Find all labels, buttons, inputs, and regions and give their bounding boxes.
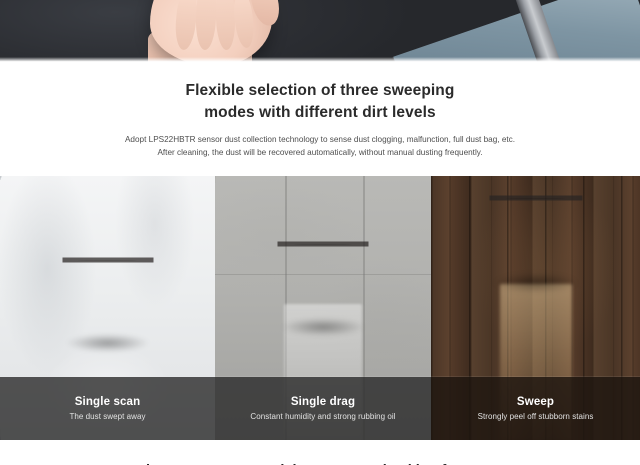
caption-title: Single scan <box>75 396 141 408</box>
caption-title: Single drag <box>291 396 355 408</box>
intro-heading-line-1: Flexible selection of three sweeping <box>186 82 455 99</box>
product-feature-page: Flexible selection of three sweeping mod… <box>0 0 640 465</box>
intro-section: Flexible selection of three sweeping mod… <box>0 62 640 176</box>
robot-seam <box>294 244 352 245</box>
intro-paragraph-line-2: After cleaning, the dust will be recover… <box>0 146 640 159</box>
hero-banner-image <box>0 0 640 62</box>
caption-subtitle: Constant humidity and strong rubbing oil <box>250 412 395 421</box>
robot-shadow <box>66 334 149 353</box>
caption-sweep: Sweep Strongly peel off stubborn stains <box>431 377 640 440</box>
caption-single-drag: Single drag Constant humidity and strong… <box>215 377 431 440</box>
mode-panels: Single scan The dust swept away Single d… <box>0 176 640 440</box>
caption-single-scan: Single scan The dust swept away <box>0 377 215 440</box>
intro-heading-line-2: modes with different dirt levels <box>0 102 640 124</box>
caption-subtitle: The dust swept away <box>69 412 145 421</box>
caption-title: Sweep <box>517 396 554 408</box>
intro-paragraph-line-1: Adopt LPS22HBTR sensor dust collection t… <box>125 135 515 144</box>
robot-vacuum <box>492 198 580 286</box>
robot-vacuum <box>65 260 151 346</box>
mode-caption-band: Single scan The dust swept away Single d… <box>0 376 640 440</box>
robot-seam <box>78 260 136 261</box>
caption-subtitle: Strongly peel off stubborn stains <box>478 412 594 421</box>
robot-vacuum <box>280 244 366 330</box>
intro-paragraph: Adopt LPS22HBTR sensor dust collection t… <box>0 133 640 160</box>
robot-seam <box>506 198 566 199</box>
outro-section: The 250mL water tank has a strong backin… <box>0 440 640 465</box>
intro-heading: Flexible selection of three sweeping mod… <box>0 80 640 124</box>
outro-heading: The 250mL water tank has a strong backin… <box>0 461 640 465</box>
robot-shadow <box>282 318 365 337</box>
hero-bottom-fade <box>0 57 640 62</box>
